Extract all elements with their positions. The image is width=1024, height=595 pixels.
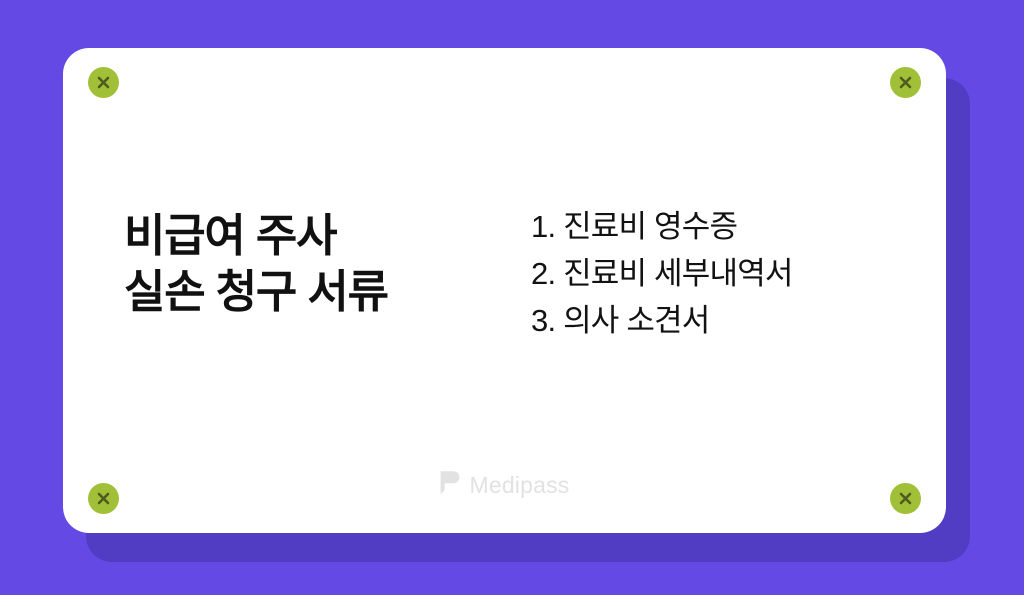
required-documents-list: 1. 진료비 영수증 2. 진료비 세부내역서 3. 의사 소견서: [531, 203, 793, 344]
list-item: 3. 의사 소견서: [531, 297, 793, 344]
slide-canvas: 비급여 주사 실손 청구 서류 1. 진료비 영수증 2. 진료비 세부내역서 …: [0, 0, 1024, 595]
list-item: 1. 진료비 영수증: [531, 203, 793, 250]
list-item: 2. 진료비 세부내역서: [531, 250, 793, 297]
card-content: 비급여 주사 실손 청구 서류 1. 진료비 영수증 2. 진료비 세부내역서 …: [63, 48, 946, 533]
brand-footer: Medipass: [63, 470, 946, 500]
info-card: 비급여 주사 실손 청구 서류 1. 진료비 영수증 2. 진료비 세부내역서 …: [63, 48, 946, 533]
page-title: 비급여 주사 실손 청구 서류: [124, 208, 388, 320]
medipass-flag-icon: [439, 470, 460, 500]
brand-name: Medipass: [469, 472, 569, 499]
